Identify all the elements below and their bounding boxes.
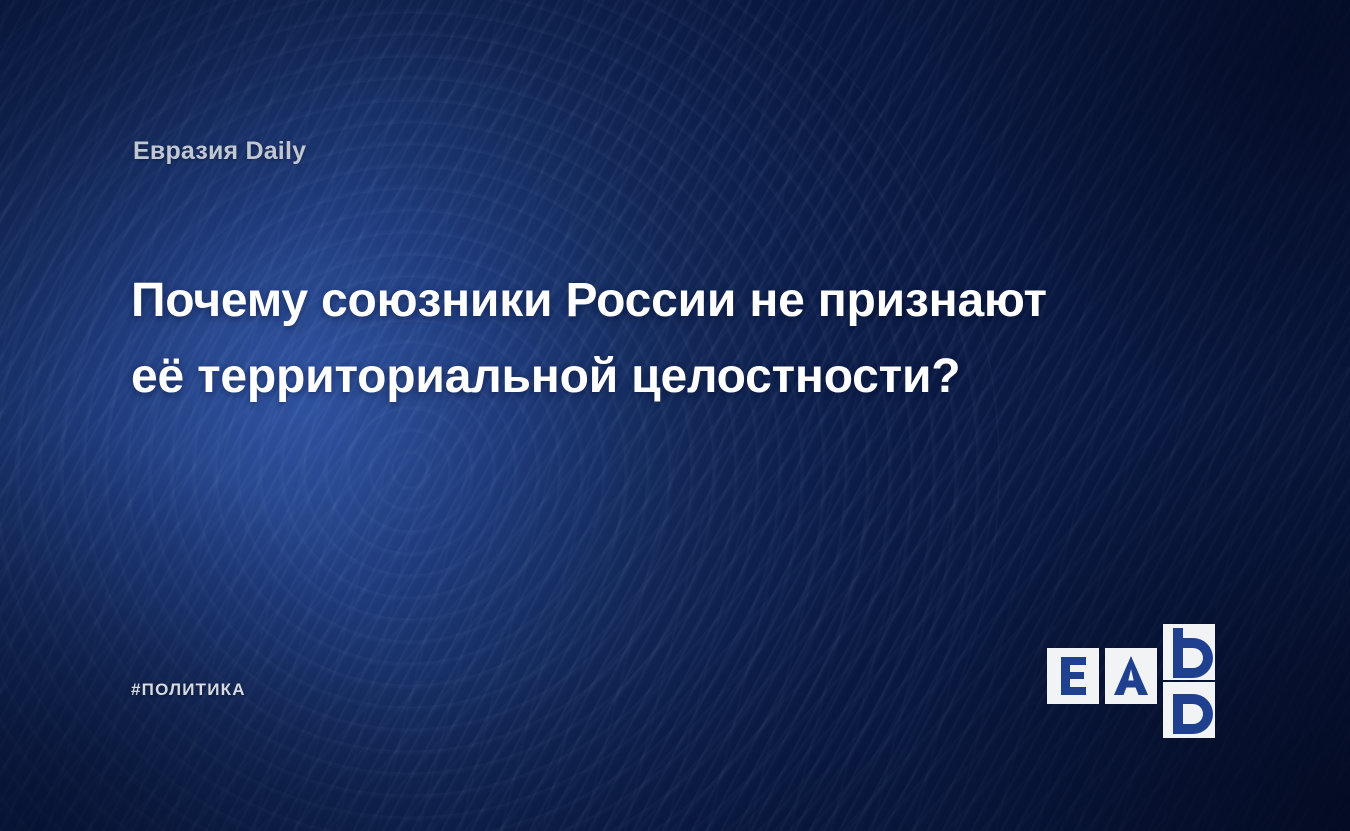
headline: Почему союзники России не признают её те…	[131, 263, 1221, 415]
logo-tile-d-top	[1163, 624, 1215, 680]
share-card: Евразия Daily Почему союзники России не …	[0, 0, 1350, 831]
logo-tile-a	[1105, 648, 1157, 704]
eadaily-logo	[1047, 624, 1223, 716]
category-hashtag: #ПОЛИТИКА	[131, 680, 246, 700]
logo-tile-e	[1047, 648, 1099, 704]
brand-name: Евразия Daily	[133, 137, 306, 166]
card-content: Евразия Daily Почему союзники России не …	[0, 0, 1350, 831]
headline-line-2: её территориальной целостности?	[131, 339, 1221, 415]
headline-line-1: Почему союзники России не признают	[131, 263, 1221, 339]
logo-tile-d-bottom	[1163, 682, 1215, 738]
